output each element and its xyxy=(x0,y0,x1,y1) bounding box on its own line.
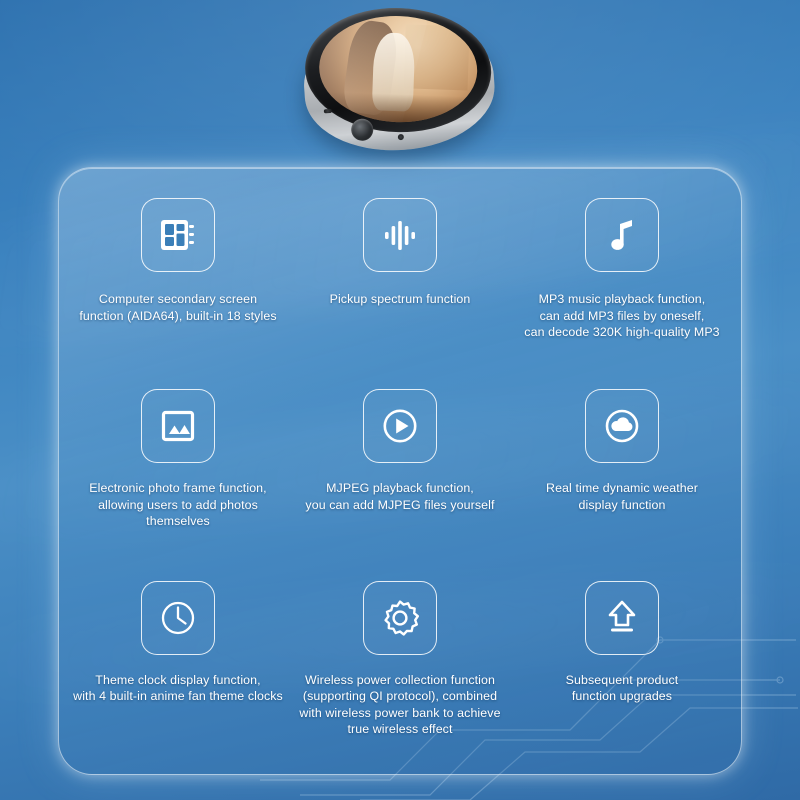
upgrade-arrow-icon xyxy=(602,598,642,638)
audio-spectrum-icon xyxy=(380,215,420,255)
feature-caption: Electronic photo frame function, allowin… xyxy=(71,480,286,530)
clock-icon xyxy=(158,598,198,638)
feature-caption: Theme clock display function, with 4 bui… xyxy=(73,672,283,705)
feature-item-photo-frame[interactable]: Electronic photo frame function, allowin… xyxy=(67,381,289,572)
feature-caption: MP3 music playback function, can add MP3… xyxy=(524,291,719,341)
play-circle-icon xyxy=(380,406,420,446)
device-bezel xyxy=(303,5,493,135)
music-note-icon xyxy=(602,215,642,255)
feature-caption: Wireless power collection function (supp… xyxy=(299,672,500,738)
icon-tile[interactable] xyxy=(141,581,215,655)
feature-caption: MJPEG playback function, you can add MJP… xyxy=(305,480,494,513)
photo-frame-icon xyxy=(158,406,198,446)
feature-item-upgrades[interactable]: Subsequent product function upgrades xyxy=(511,573,733,764)
icon-tile[interactable] xyxy=(585,198,659,272)
infographic-stage: Computer secondary screen function (AIDA… xyxy=(0,0,800,800)
side-microphone xyxy=(324,109,332,114)
feature-item-screen-grid[interactable]: Computer secondary screen function (AIDA… xyxy=(67,190,289,381)
screen-grid-icon xyxy=(158,215,198,255)
feature-item-wireless-power[interactable]: Wireless power collection function (supp… xyxy=(289,573,511,764)
icon-tile[interactable] xyxy=(363,389,437,463)
icon-tile[interactable] xyxy=(585,389,659,463)
feature-caption: Real time dynamic weather display functi… xyxy=(546,480,698,513)
icon-tile[interactable] xyxy=(363,581,437,655)
feature-panel: Computer secondary screen function (AIDA… xyxy=(58,167,742,775)
gear-icon xyxy=(379,597,421,639)
feature-item-theme-clock[interactable]: Theme clock display function, with 4 bui… xyxy=(67,573,289,764)
feature-item-mp3-playback[interactable]: MP3 music playback function, can add MP3… xyxy=(511,190,733,381)
feature-item-weather[interactable]: Real time dynamic weather display functi… xyxy=(511,381,733,572)
feature-grid: Computer secondary screen function (AIDA… xyxy=(59,168,741,774)
feature-item-audio-spectrum[interactable]: Pickup spectrum function xyxy=(289,190,511,381)
product-device xyxy=(291,0,509,165)
feature-caption: Computer secondary screen function (AIDA… xyxy=(79,291,276,324)
feature-item-mjpeg-playback[interactable]: MJPEG playback function, you can add MJP… xyxy=(289,381,511,572)
product-image-area xyxy=(0,0,800,172)
icon-tile[interactable] xyxy=(363,198,437,272)
icon-tile[interactable] xyxy=(141,198,215,272)
device-screen xyxy=(317,13,479,124)
icon-tile[interactable] xyxy=(141,389,215,463)
icon-tile[interactable] xyxy=(585,581,659,655)
feature-caption: Pickup spectrum function xyxy=(330,291,471,308)
cloud-weather-icon xyxy=(602,406,642,446)
feature-caption: Subsequent product function upgrades xyxy=(566,672,679,705)
